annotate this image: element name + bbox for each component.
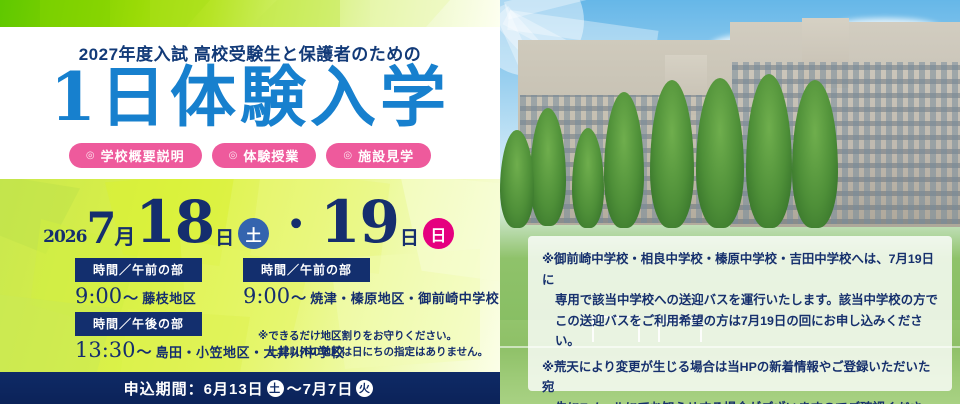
district-note-line-1: ※できるだけ地区割りをお守りください。 — [258, 328, 488, 344]
left-info-panel: 2027年度入試 高校受験生と保護者のための 1日体験入学 ◎ 学校概要説明 ◎… — [0, 0, 500, 404]
event-date-row: 2026 7 月 18 日 土 ・ 19 日 日 — [0, 188, 500, 256]
page-title: 1日体験入学 — [0, 57, 500, 137]
notice-paragraph-weather: ※荒天により変更が生じる場合は当HPの新着情報やご登録いただいた宛 先にEメール… — [542, 357, 939, 404]
notice-line: 専用で該当中学校への送迎バスを運行いたします。該当中学校の方で — [542, 290, 939, 311]
program-pill-label: 施設見学 — [358, 146, 414, 165]
event-day-1: 18 — [135, 188, 214, 256]
session-area: 焼津・榛原地区・御前崎中学校 — [310, 288, 499, 307]
application-period-prefix: 申込期間：6月13日 — [124, 378, 264, 399]
session-tilde: 〜 — [123, 287, 138, 308]
session-tilde: 〜 — [137, 341, 152, 362]
day-of-week-badge-sunday: 日 — [423, 218, 454, 249]
notice-box: ※御前崎中学校・相良中学校・榛原中学校・吉田中学校へは、7月19日に 専用で該当… — [528, 236, 952, 391]
circle-mark-icon: ◎ — [343, 150, 353, 161]
program-pill-label: 体験授業 — [243, 146, 299, 165]
session-detail: 9:00 〜 焼津・榛原地区・御前崎中学校 — [243, 284, 499, 308]
district-note: ※できるだけ地区割りをお守りください。 上記以外の地区は日にちの指定はありません… — [258, 328, 488, 360]
program-pill-school-overview: ◎ 学校概要説明 — [69, 143, 202, 168]
notice-line: ※御前崎中学校・相良中学校・榛原中学校・吉田中学校へは、7月19日に — [542, 252, 934, 287]
program-pill-row: ◎ 学校概要説明 ◎ 体験授業 ◎ 施設見学 — [0, 143, 500, 168]
application-period-middle: 〜7月7日 — [287, 378, 354, 399]
session-time: 13:30 — [75, 338, 136, 362]
day-of-week-badge-saturday: 土 — [238, 218, 269, 249]
top-green-gradient-bar — [0, 0, 500, 27]
event-day-1-label: 日 — [215, 223, 234, 256]
event-day-2: 19 — [320, 188, 399, 256]
session-label: 時間／午前の部 — [243, 258, 370, 282]
date-separator: ・ — [276, 192, 316, 256]
session-time: 9:00 — [75, 284, 122, 308]
program-pill-trial-lesson: ◎ 体験授業 — [212, 143, 317, 168]
session-time: 9:00 — [243, 284, 290, 308]
notice-line: ※荒天により変更が生じる場合は当HPの新着情報やご登録いただいた宛 — [542, 360, 930, 395]
session-area: 藤枝地区 — [142, 288, 196, 307]
district-note-line-2: 上記以外の地区は日にちの指定はありません。 — [258, 344, 488, 360]
event-month-label: 月 — [114, 221, 135, 256]
session-block-morning-yaizu: 時間／午前の部 9:00 〜 焼津・榛原地区・御前崎中学校 — [243, 258, 499, 308]
open-house-banner: 2027年度入試 高校受験生と保護者のための 1日体験入学 ◎ 学校概要説明 ◎… — [0, 0, 960, 404]
event-year: 2026 — [43, 227, 86, 256]
application-start-dow-badge: 土 — [267, 380, 284, 397]
circle-mark-icon: ◎ — [229, 150, 239, 161]
session-detail: 9:00 〜 藤枝地区 — [75, 284, 202, 308]
notice-line: この送迎バスをご利用希望の方は7月19日の回にお申し込みください。 — [542, 311, 939, 352]
program-pill-facility-tour: ◎ 施設見学 — [326, 143, 431, 168]
application-period-text: 申込期間：6月13日 土 〜7月7日 火 — [124, 378, 377, 399]
session-label: 時間／午前の部 — [75, 258, 202, 282]
event-day-2-label: 日 — [400, 223, 419, 256]
notice-line: 先にEメールにてお知らせする場合がございますのでご確認ください。 — [542, 398, 939, 404]
session-list: 時間／午前の部 9:00 〜 藤枝地区 時間／午後の部 13:30 〜 島田・小… — [0, 258, 500, 368]
circle-mark-icon: ◎ — [86, 150, 96, 161]
application-period-bar: 申込期間：6月13日 土 〜7月7日 火 — [0, 372, 500, 404]
session-block-morning-fujieda: 時間／午前の部 9:00 〜 藤枝地区 — [75, 258, 202, 308]
application-end-dow-badge: 火 — [356, 380, 373, 397]
session-tilde: 〜 — [291, 287, 306, 308]
program-pill-label: 学校概要説明 — [101, 146, 185, 165]
session-label: 時間／午後の部 — [75, 312, 202, 336]
notice-paragraph-bus: ※御前崎中学校・相良中学校・榛原中学校・吉田中学校へは、7月19日に 専用で該当… — [542, 249, 939, 352]
campus-photo: ※御前崎中学校・相良中学校・榛原中学校・吉田中学校へは、7月19日に 専用で該当… — [500, 0, 960, 404]
event-month-number: 7 — [86, 204, 116, 256]
